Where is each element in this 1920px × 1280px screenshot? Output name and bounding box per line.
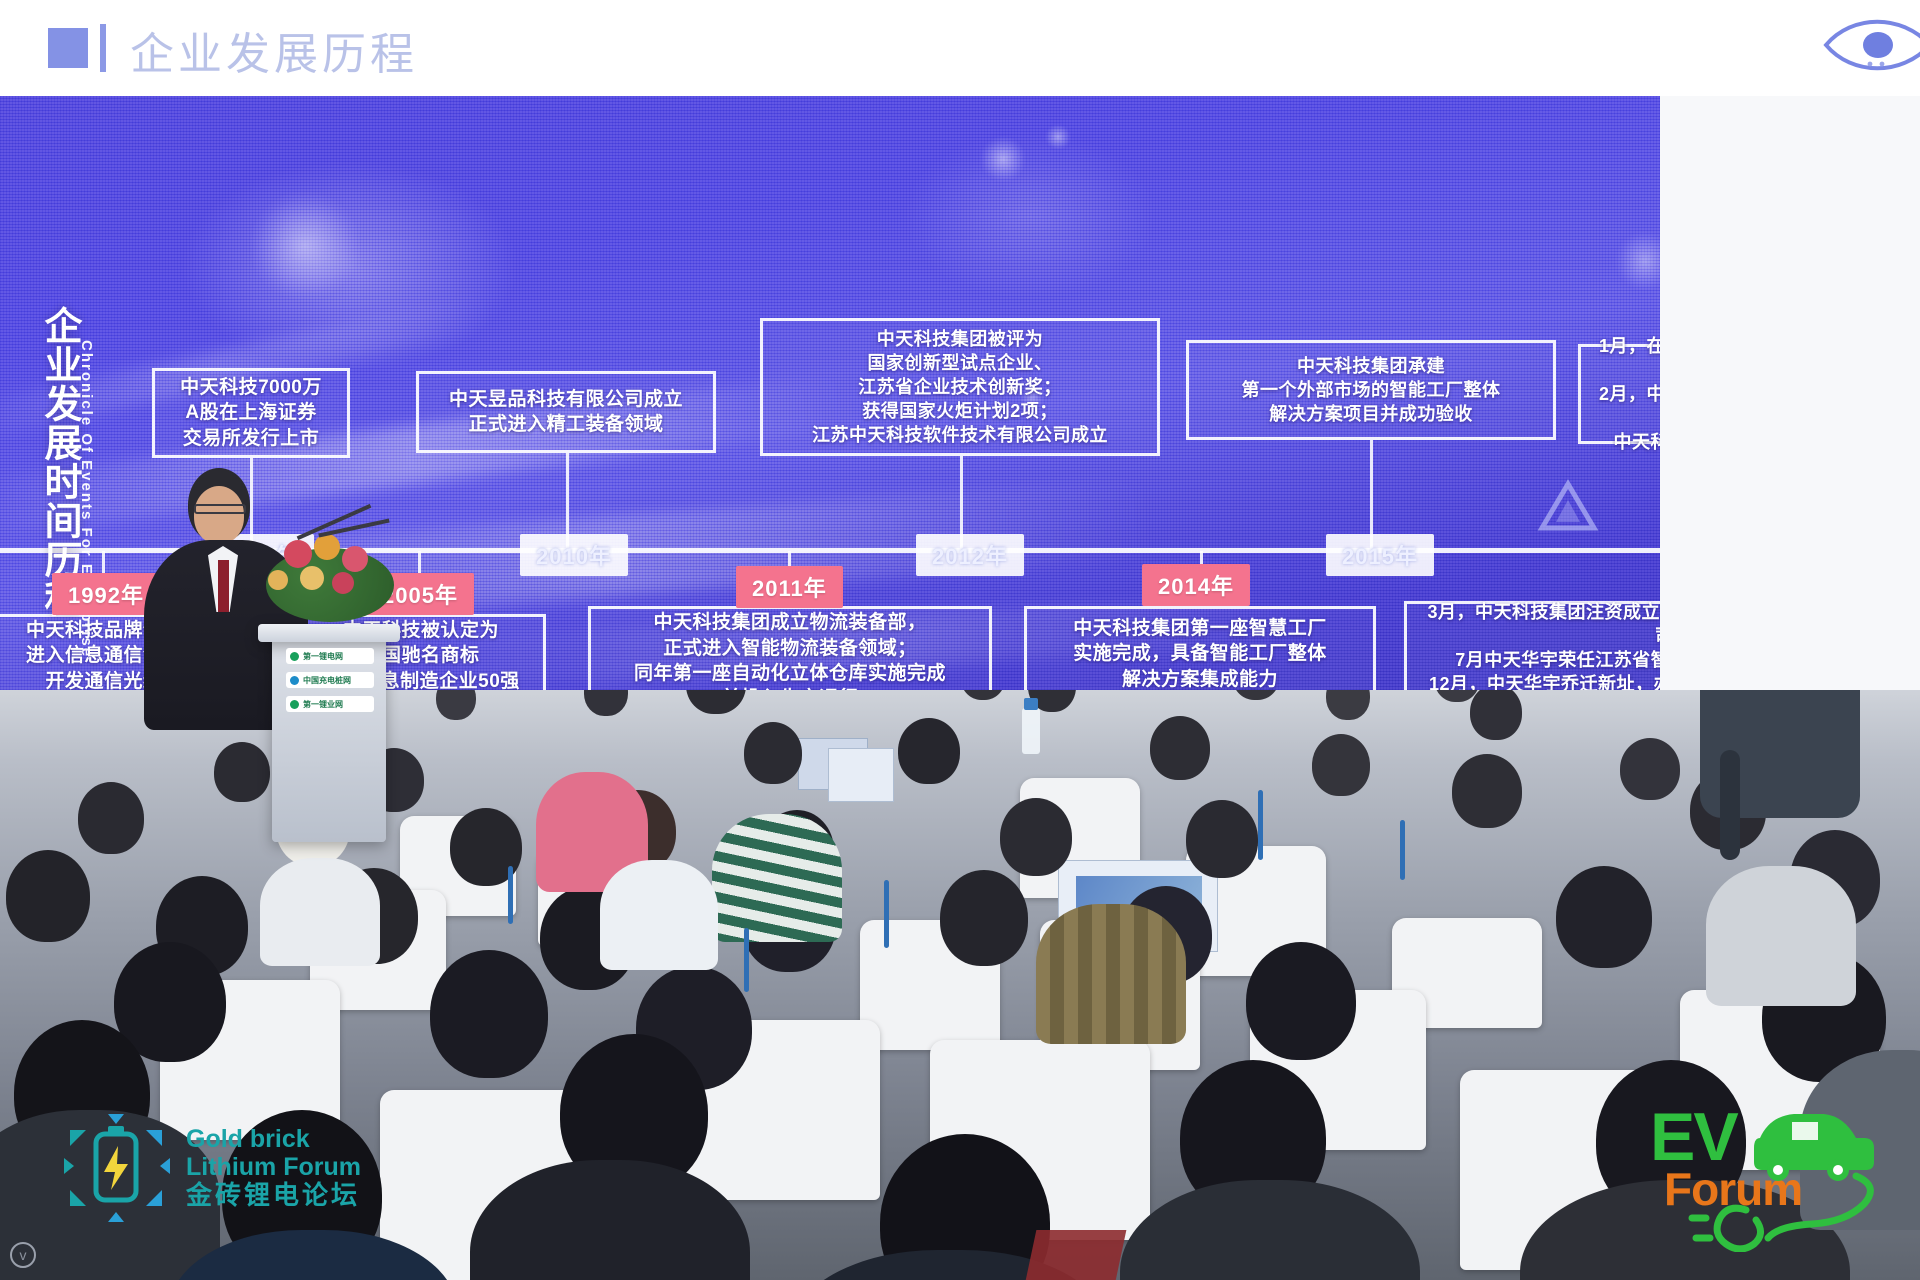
bokeh-dot	[1045, 124, 1071, 150]
header-vertical-rule	[100, 24, 106, 72]
audience-head	[430, 950, 548, 1078]
audience-head	[436, 690, 476, 720]
gold-brick-text: Gold brick Lithium Forum 金砖锂电论坛	[186, 1125, 361, 1210]
audience-head	[1246, 942, 1356, 1060]
audience-head	[960, 690, 1006, 700]
timeline-event-2010: 中天昱品科技有限公司成立正式进入精工装备领域	[416, 371, 716, 453]
audience-head	[940, 870, 1028, 966]
badge-label: 中国充电桩网	[303, 675, 351, 686]
event-text: 中天科技集团第一座智慧工厂实施完成，具备智能工厂整体解决方案集成能力	[1073, 616, 1327, 692]
lanyard	[1258, 790, 1263, 860]
podium-badge-2: 第一锂业网	[286, 696, 374, 712]
slide-vertical-title: 企业发展时间历程	[6, 306, 78, 618]
bokeh-dot	[1615, 231, 1660, 291]
timeline-event-2012: 中天科技集团被评为国家创新型试点企业、江苏省企业技术创新奖；获得国家火炬计划2项…	[760, 318, 1160, 456]
lanyard	[1400, 820, 1405, 880]
audience-shoulders	[1120, 1180, 1420, 1280]
presenter-tie	[218, 560, 229, 612]
year-badge-2012: 2012年	[916, 534, 1024, 576]
audience-head	[686, 690, 746, 714]
aisle-carpet	[1024, 1230, 1127, 1280]
logo-line-2: Lithium Forum	[186, 1153, 361, 1181]
ev-forum-logo: EV Forum	[1642, 1092, 1902, 1252]
audience-head	[898, 718, 960, 784]
year-badge-2015: 2015年	[1326, 534, 1434, 576]
audience-clothing	[600, 860, 718, 970]
event-text: 中天科技集团承建第一个外部市场的智能工厂整体解决方案项目并成功验收	[1242, 354, 1501, 426]
badge-dot-icon	[290, 676, 299, 685]
audience-clothing	[712, 814, 842, 942]
podium-badge-0: 第一锂电网	[286, 648, 374, 664]
audience-head	[1326, 690, 1370, 720]
year-badge-2011: 2011年	[736, 566, 843, 608]
presenter-glasses	[194, 504, 246, 514]
audience-head	[1312, 734, 1370, 796]
battery-bolt-icon	[62, 1112, 172, 1224]
audience-head	[1556, 866, 1652, 968]
eye-logo-icon	[1818, 8, 1920, 82]
badge-dot-icon	[290, 700, 299, 709]
ev-car-plug-icon	[1642, 1092, 1902, 1252]
timeline-stem	[1370, 440, 1373, 548]
bottle-cap	[1024, 698, 1038, 710]
podium-flowers	[248, 526, 408, 636]
badge-label: 第一锂业网	[303, 699, 343, 710]
seat-programme-card	[828, 748, 894, 802]
presenter-face	[194, 486, 244, 544]
zhongtian-triangle-logo-icon	[1524, 476, 1620, 548]
year-badge-2014: 2014年	[1142, 564, 1250, 606]
event-text: 中天科技集团被评为国家创新型试点企业、江苏省企业技术创新奖；获得国家火炬计划2项…	[812, 327, 1108, 448]
page-title: 企业发展历程	[130, 18, 418, 82]
bokeh-dot	[250, 191, 360, 301]
audience-head	[214, 742, 270, 802]
timeline-event-2014: 中天科技集团第一座智慧工厂实施完成，具备智能工厂整体解决方案集成能力	[1024, 606, 1376, 702]
event-text: 中天科技7000万A股在上海证券交易所发行上市	[180, 375, 322, 451]
gold-brick-lithium-forum-logo: Gold brick Lithium Forum 金砖锂电论坛	[62, 1112, 361, 1224]
lanyard	[744, 928, 749, 992]
audience-clothing	[260, 858, 380, 966]
timeline-event-2017: 1月，在南京软件谷大数据基地成立研发中心2月，中天智能装备有限公司注册成立中天科…	[1578, 344, 1660, 444]
logo-line-1: Gold brick	[186, 1125, 361, 1153]
audience-head	[1186, 800, 1258, 878]
header-square-marker	[48, 28, 88, 68]
audience-head	[1150, 716, 1210, 780]
watermark-badge: v	[10, 1242, 36, 1268]
audience-head	[1620, 738, 1680, 800]
audience-head	[78, 782, 144, 854]
audience-head	[1452, 754, 1522, 828]
audience-head	[1470, 690, 1522, 740]
lanyard	[884, 880, 889, 948]
timeline-event-2015: 中天科技集团承建第一个外部市场的智能工厂整体解决方案项目并成功验收	[1186, 340, 1556, 440]
audience-clothing	[1706, 866, 1856, 1006]
event-text: 中天昱品科技有限公司成立正式进入精工装备领域	[449, 387, 683, 438]
logo-line-3: 金砖锂电论坛	[186, 1181, 361, 1210]
audience-head	[744, 722, 802, 784]
audience-head	[1000, 798, 1072, 876]
lanyard	[508, 866, 513, 924]
audience-head	[6, 850, 90, 942]
audience-head	[584, 690, 628, 716]
top-header-bar: 企业发展历程	[0, 0, 1920, 96]
bokeh-dot	[980, 136, 1026, 182]
badge-dot-icon	[290, 652, 299, 661]
badge-label: 第一锂电网	[303, 651, 343, 662]
water-bottle	[1022, 708, 1040, 754]
timeline-event-2002: 中天科技7000万A股在上海证券交易所发行上市	[152, 368, 350, 458]
podium-badge-1: 中国充电桩网	[286, 672, 374, 688]
year-badge-2010: 2010年	[520, 534, 628, 576]
screenshot-root: 企业发展时间历程 Chronicle Of Events For Enterpr…	[0, 0, 1920, 1280]
backpack-strap	[1720, 750, 1740, 860]
audience-head	[1232, 690, 1280, 700]
audience-clothing	[1036, 904, 1186, 1044]
event-text: 1月，在南京软件谷大数据基地成立研发中心2月，中天智能装备有限公司注册成立中天科…	[1593, 334, 1660, 455]
